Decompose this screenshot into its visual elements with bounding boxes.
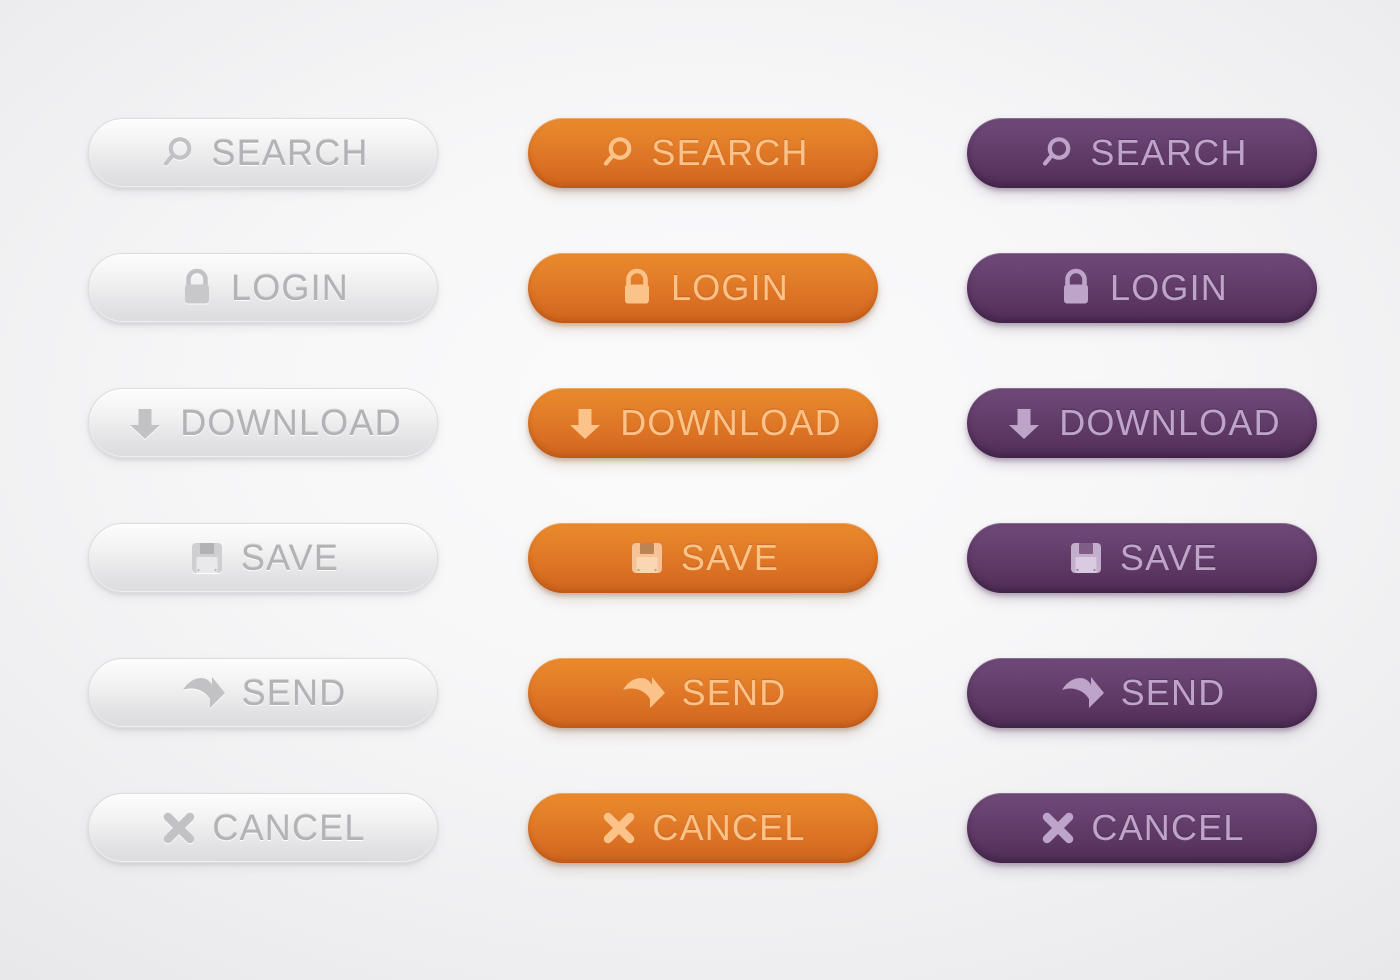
search-icon — [1036, 133, 1076, 173]
cancel-button-gray[interactable]: CANCEL — [88, 793, 438, 863]
download-button-label: DOWNLOAD — [180, 405, 402, 441]
login-button-gray[interactable]: LOGIN — [88, 253, 438, 323]
search-icon — [157, 133, 197, 173]
button-column-purple: SEARCH LOGIN DOWNLOAD SAVE — [967, 118, 1317, 863]
close-x-icon — [1039, 809, 1077, 847]
floppy-disk-icon — [187, 538, 227, 578]
floppy-disk-icon — [627, 538, 667, 578]
save-button-gray[interactable]: SAVE — [88, 523, 438, 593]
cancel-button-label: CANCEL — [212, 810, 365, 846]
download-button-label: DOWNLOAD — [1059, 405, 1281, 441]
download-arrow-icon — [564, 402, 606, 444]
cancel-button-label: CANCEL — [1091, 810, 1244, 846]
login-button-purple[interactable]: LOGIN — [967, 253, 1317, 323]
cancel-button-purple[interactable]: CANCEL — [967, 793, 1317, 863]
send-button-label: SEND — [682, 675, 787, 711]
send-button-label: SEND — [242, 675, 347, 711]
send-button-label: SEND — [1121, 675, 1226, 711]
button-column-orange: SEARCH LOGIN DOWNLOAD SAVE — [528, 118, 878, 863]
cancel-button-orange[interactable]: CANCEL — [528, 793, 878, 863]
close-x-icon — [160, 809, 198, 847]
lock-icon — [1056, 266, 1096, 310]
download-button-purple[interactable]: DOWNLOAD — [967, 388, 1317, 458]
lock-icon — [617, 266, 657, 310]
floppy-disk-icon — [1066, 538, 1106, 578]
download-button-orange[interactable]: DOWNLOAD — [528, 388, 878, 458]
login-button-label: LOGIN — [671, 270, 789, 306]
search-button-label: SEARCH — [211, 135, 368, 171]
search-icon — [597, 133, 637, 173]
button-set-board: SEARCH LOGIN DOWNLOAD SAVE — [0, 0, 1400, 980]
send-arrow-icon — [180, 672, 228, 714]
search-button-purple[interactable]: SEARCH — [967, 118, 1317, 188]
close-x-icon — [600, 809, 638, 847]
login-button-label: LOGIN — [231, 270, 349, 306]
search-button-label: SEARCH — [651, 135, 808, 171]
download-arrow-icon — [1003, 402, 1045, 444]
search-button-orange[interactable]: SEARCH — [528, 118, 878, 188]
send-arrow-icon — [1059, 672, 1107, 714]
search-button-label: SEARCH — [1090, 135, 1247, 171]
send-button-orange[interactable]: SEND — [528, 658, 878, 728]
button-column-gray: SEARCH LOGIN DOWNLOAD SAVE — [88, 118, 438, 863]
save-button-purple[interactable]: SAVE — [967, 523, 1317, 593]
save-button-orange[interactable]: SAVE — [528, 523, 878, 593]
login-button-label: LOGIN — [1110, 270, 1228, 306]
lock-icon — [177, 266, 217, 310]
send-button-gray[interactable]: SEND — [88, 658, 438, 728]
cancel-button-label: CANCEL — [652, 810, 805, 846]
download-button-label: DOWNLOAD — [620, 405, 842, 441]
save-button-label: SAVE — [681, 540, 779, 576]
save-button-label: SAVE — [241, 540, 339, 576]
login-button-orange[interactable]: LOGIN — [528, 253, 878, 323]
download-arrow-icon — [124, 402, 166, 444]
download-button-gray[interactable]: DOWNLOAD — [88, 388, 438, 458]
save-button-label: SAVE — [1120, 540, 1218, 576]
search-button-gray[interactable]: SEARCH — [88, 118, 438, 188]
send-button-purple[interactable]: SEND — [967, 658, 1317, 728]
send-arrow-icon — [620, 672, 668, 714]
